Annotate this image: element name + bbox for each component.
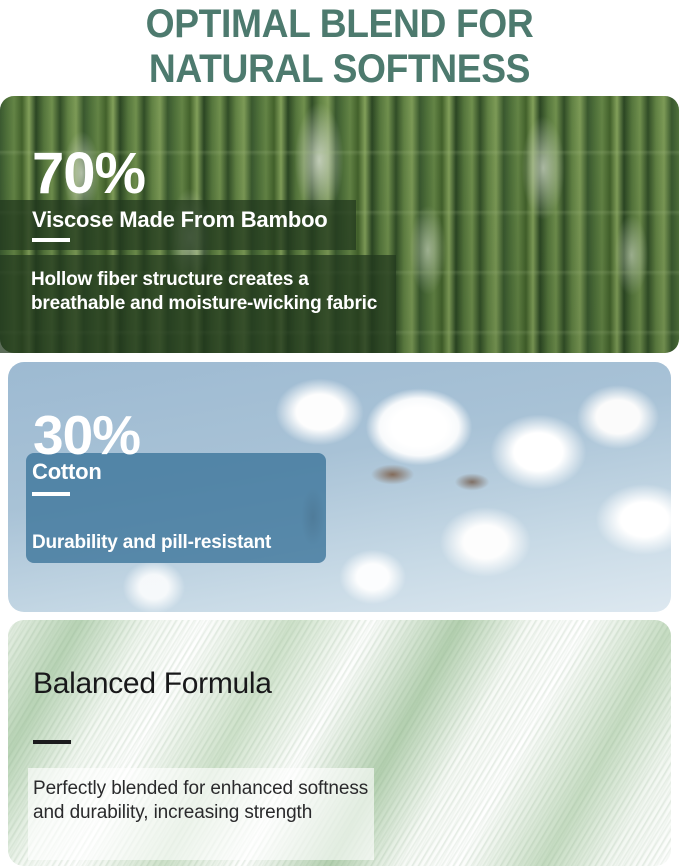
page-title-line-2: NATURAL SOFTNESS bbox=[24, 47, 655, 92]
blend-body-text: Perfectly blended for enhanced softness … bbox=[33, 777, 383, 825]
cotton-body-text: Durability and pill-resistant bbox=[32, 531, 322, 555]
bamboo-divider bbox=[32, 238, 70, 242]
page-title: OPTIMAL BLEND FOR NATURAL SOFTNESS bbox=[0, 0, 679, 94]
bamboo-body-text: Hollow fiber structure creates a breatha… bbox=[31, 268, 387, 316]
cotton-percentage: 30% bbox=[33, 408, 140, 463]
blend-divider bbox=[33, 740, 71, 744]
blend-infographic: OPTIMAL BLEND FOR NATURAL SOFTNESS 70% V… bbox=[0, 0, 679, 866]
cotton-divider bbox=[32, 492, 70, 496]
bamboo-percentage: 70% bbox=[32, 145, 145, 203]
page-title-line-1: OPTIMAL BLEND FOR bbox=[24, 2, 655, 47]
cotton-label: Cotton bbox=[32, 459, 102, 485]
bamboo-label: Viscose Made From Bamboo bbox=[32, 207, 328, 233]
blend-label: Balanced Formula bbox=[33, 667, 333, 700]
